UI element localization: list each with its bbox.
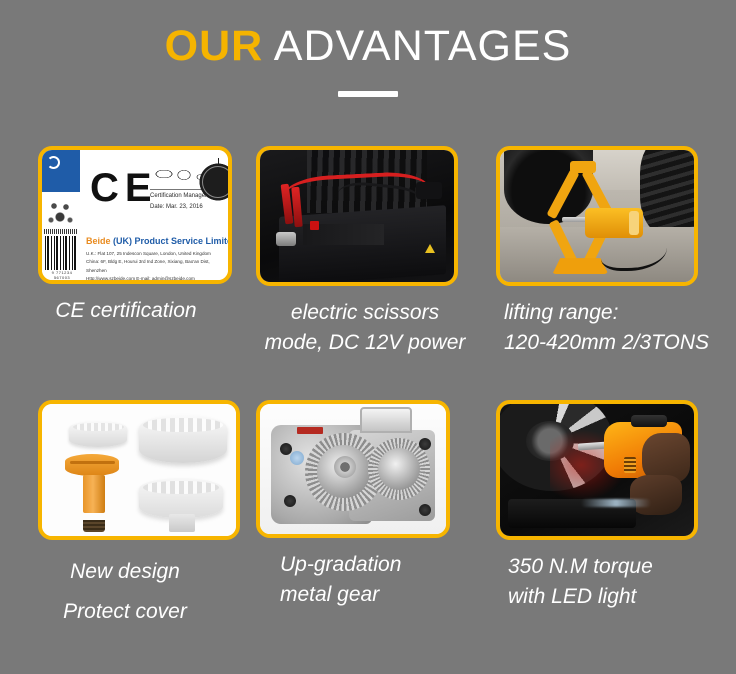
orange-adapter-head bbox=[65, 454, 119, 476]
royal-crest-icon bbox=[46, 198, 76, 228]
feature-card-metal-gear: Up-gradation metal gear bbox=[246, 390, 480, 640]
cable-plug bbox=[416, 182, 442, 199]
jack-photo-artwork bbox=[500, 150, 694, 282]
barcode-icon bbox=[45, 236, 77, 270]
orange-adapter-tip bbox=[83, 520, 105, 532]
feature-card-torque-led: 350 N.M torque with LED light bbox=[480, 390, 736, 640]
address-line-2: China: 6F, Bldg E, Hourui 3rd Ind Zone, … bbox=[86, 258, 231, 275]
wrench-photo-artwork bbox=[500, 404, 694, 536]
caption-line: 350 N.M torque bbox=[508, 552, 736, 582]
bolt-icon bbox=[419, 438, 431, 450]
metal-gear-assembly-image bbox=[256, 400, 450, 538]
caption-line: Up-gradation bbox=[280, 550, 480, 580]
wrench-top-grip bbox=[631, 415, 667, 427]
feature-caption: New design Protect cover bbox=[0, 552, 246, 632]
caption-line: with LED light bbox=[508, 582, 736, 612]
caption-line: New design bbox=[4, 552, 246, 592]
covers-photo-artwork bbox=[42, 404, 236, 536]
caption-line: CE certification bbox=[6, 296, 246, 326]
caption-line: 120-420mm 2/3TONS bbox=[504, 328, 736, 358]
orange-adapter-stem bbox=[83, 475, 105, 513]
feature-card-protect-cover: New design Protect cover bbox=[0, 390, 246, 640]
scissor-jack-under-car-image bbox=[496, 146, 698, 286]
barcode-number: 9 771234 567003 bbox=[45, 270, 79, 276]
title-underline bbox=[338, 91, 398, 97]
battery-red-badge bbox=[310, 221, 319, 230]
caption-line: Protect cover bbox=[4, 592, 246, 632]
feature-caption: electric scissors mode, DC 12V power bbox=[246, 298, 480, 359]
impact-wrench-on-wheel-image bbox=[496, 400, 698, 540]
wrench-vent bbox=[624, 457, 636, 473]
advantages-banner: OUR ADVANTAGES 9 771234 567003 CE Certif… bbox=[0, 0, 736, 674]
company-brand: Beide bbox=[86, 236, 111, 246]
hand-lower bbox=[630, 475, 682, 515]
ce-certificate-image: 9 771234 567003 CE Certification Manager… bbox=[38, 146, 232, 284]
caption-line: mode, DC 12V power bbox=[250, 328, 480, 358]
battery-terminal bbox=[276, 232, 296, 246]
crest-base bbox=[44, 229, 78, 234]
feature-caption: lifting range: 120-420mm 2/3TONS bbox=[480, 298, 736, 359]
title-accent: OUR bbox=[165, 22, 264, 70]
red-marking bbox=[297, 427, 323, 434]
battery-photo-artwork bbox=[260, 150, 454, 282]
address-line-1: U.K.: Flat 107, 25 Indescon Square, Lond… bbox=[86, 250, 231, 258]
certificate-address: U.K.: Flat 107, 25 Indescon Square, Lond… bbox=[86, 250, 231, 284]
feature-card-ce-certification: 9 771234 567003 CE Certification Manager… bbox=[0, 140, 246, 390]
bolt-icon bbox=[419, 504, 431, 516]
feature-card-electric-scissors: electric scissors mode, DC 12V power bbox=[246, 140, 480, 390]
certificate-company: Beide (UK) Product Service Limited bbox=[86, 236, 232, 246]
page-title: OUR ADVANTAGES bbox=[0, 24, 736, 69]
address-line-3: Http://www.szbeide.com E-mail: admin@szb… bbox=[86, 275, 231, 283]
car-battery-jumper-image bbox=[256, 146, 458, 286]
car-tire-right bbox=[640, 150, 694, 234]
feature-caption: Up-gradation metal gear bbox=[246, 550, 480, 611]
metal-highlight bbox=[581, 499, 651, 507]
ce-mark-logo: CE bbox=[90, 168, 158, 208]
feature-caption: 350 N.M torque with LED light bbox=[480, 552, 736, 613]
protect-cover-base bbox=[139, 478, 223, 518]
protect-cover-large bbox=[139, 415, 227, 463]
caption-line: electric scissors bbox=[250, 298, 480, 328]
caption-line: lifting range: bbox=[504, 298, 736, 328]
company-rest: (UK) Product Service Limited bbox=[111, 236, 232, 246]
blue-cap-icon bbox=[290, 451, 304, 465]
protect-cover-small bbox=[69, 421, 127, 447]
gear-photo-artwork bbox=[260, 404, 446, 534]
gearbox-top-cap bbox=[360, 407, 412, 433]
feature-caption: CE certification bbox=[0, 296, 246, 326]
header: OUR ADVANTAGES bbox=[0, 0, 736, 97]
caption-line: metal gear bbox=[280, 580, 480, 610]
jack-shaft bbox=[562, 217, 588, 222]
warning-triangle-icon bbox=[425, 244, 435, 253]
jack-base-foot bbox=[552, 258, 608, 274]
certificate-blue-block bbox=[42, 150, 80, 192]
protect-cover-parts-image bbox=[38, 400, 240, 540]
feature-card-lifting-range: lifting range: 120-420mm 2/3TONS bbox=[480, 140, 736, 390]
certificate-artwork: 9 771234 567003 CE Certification Manager… bbox=[42, 150, 228, 280]
title-rest: ADVANTAGES bbox=[263, 22, 571, 70]
feature-grid: 9 771234 567003 CE Certification Manager… bbox=[0, 140, 736, 640]
